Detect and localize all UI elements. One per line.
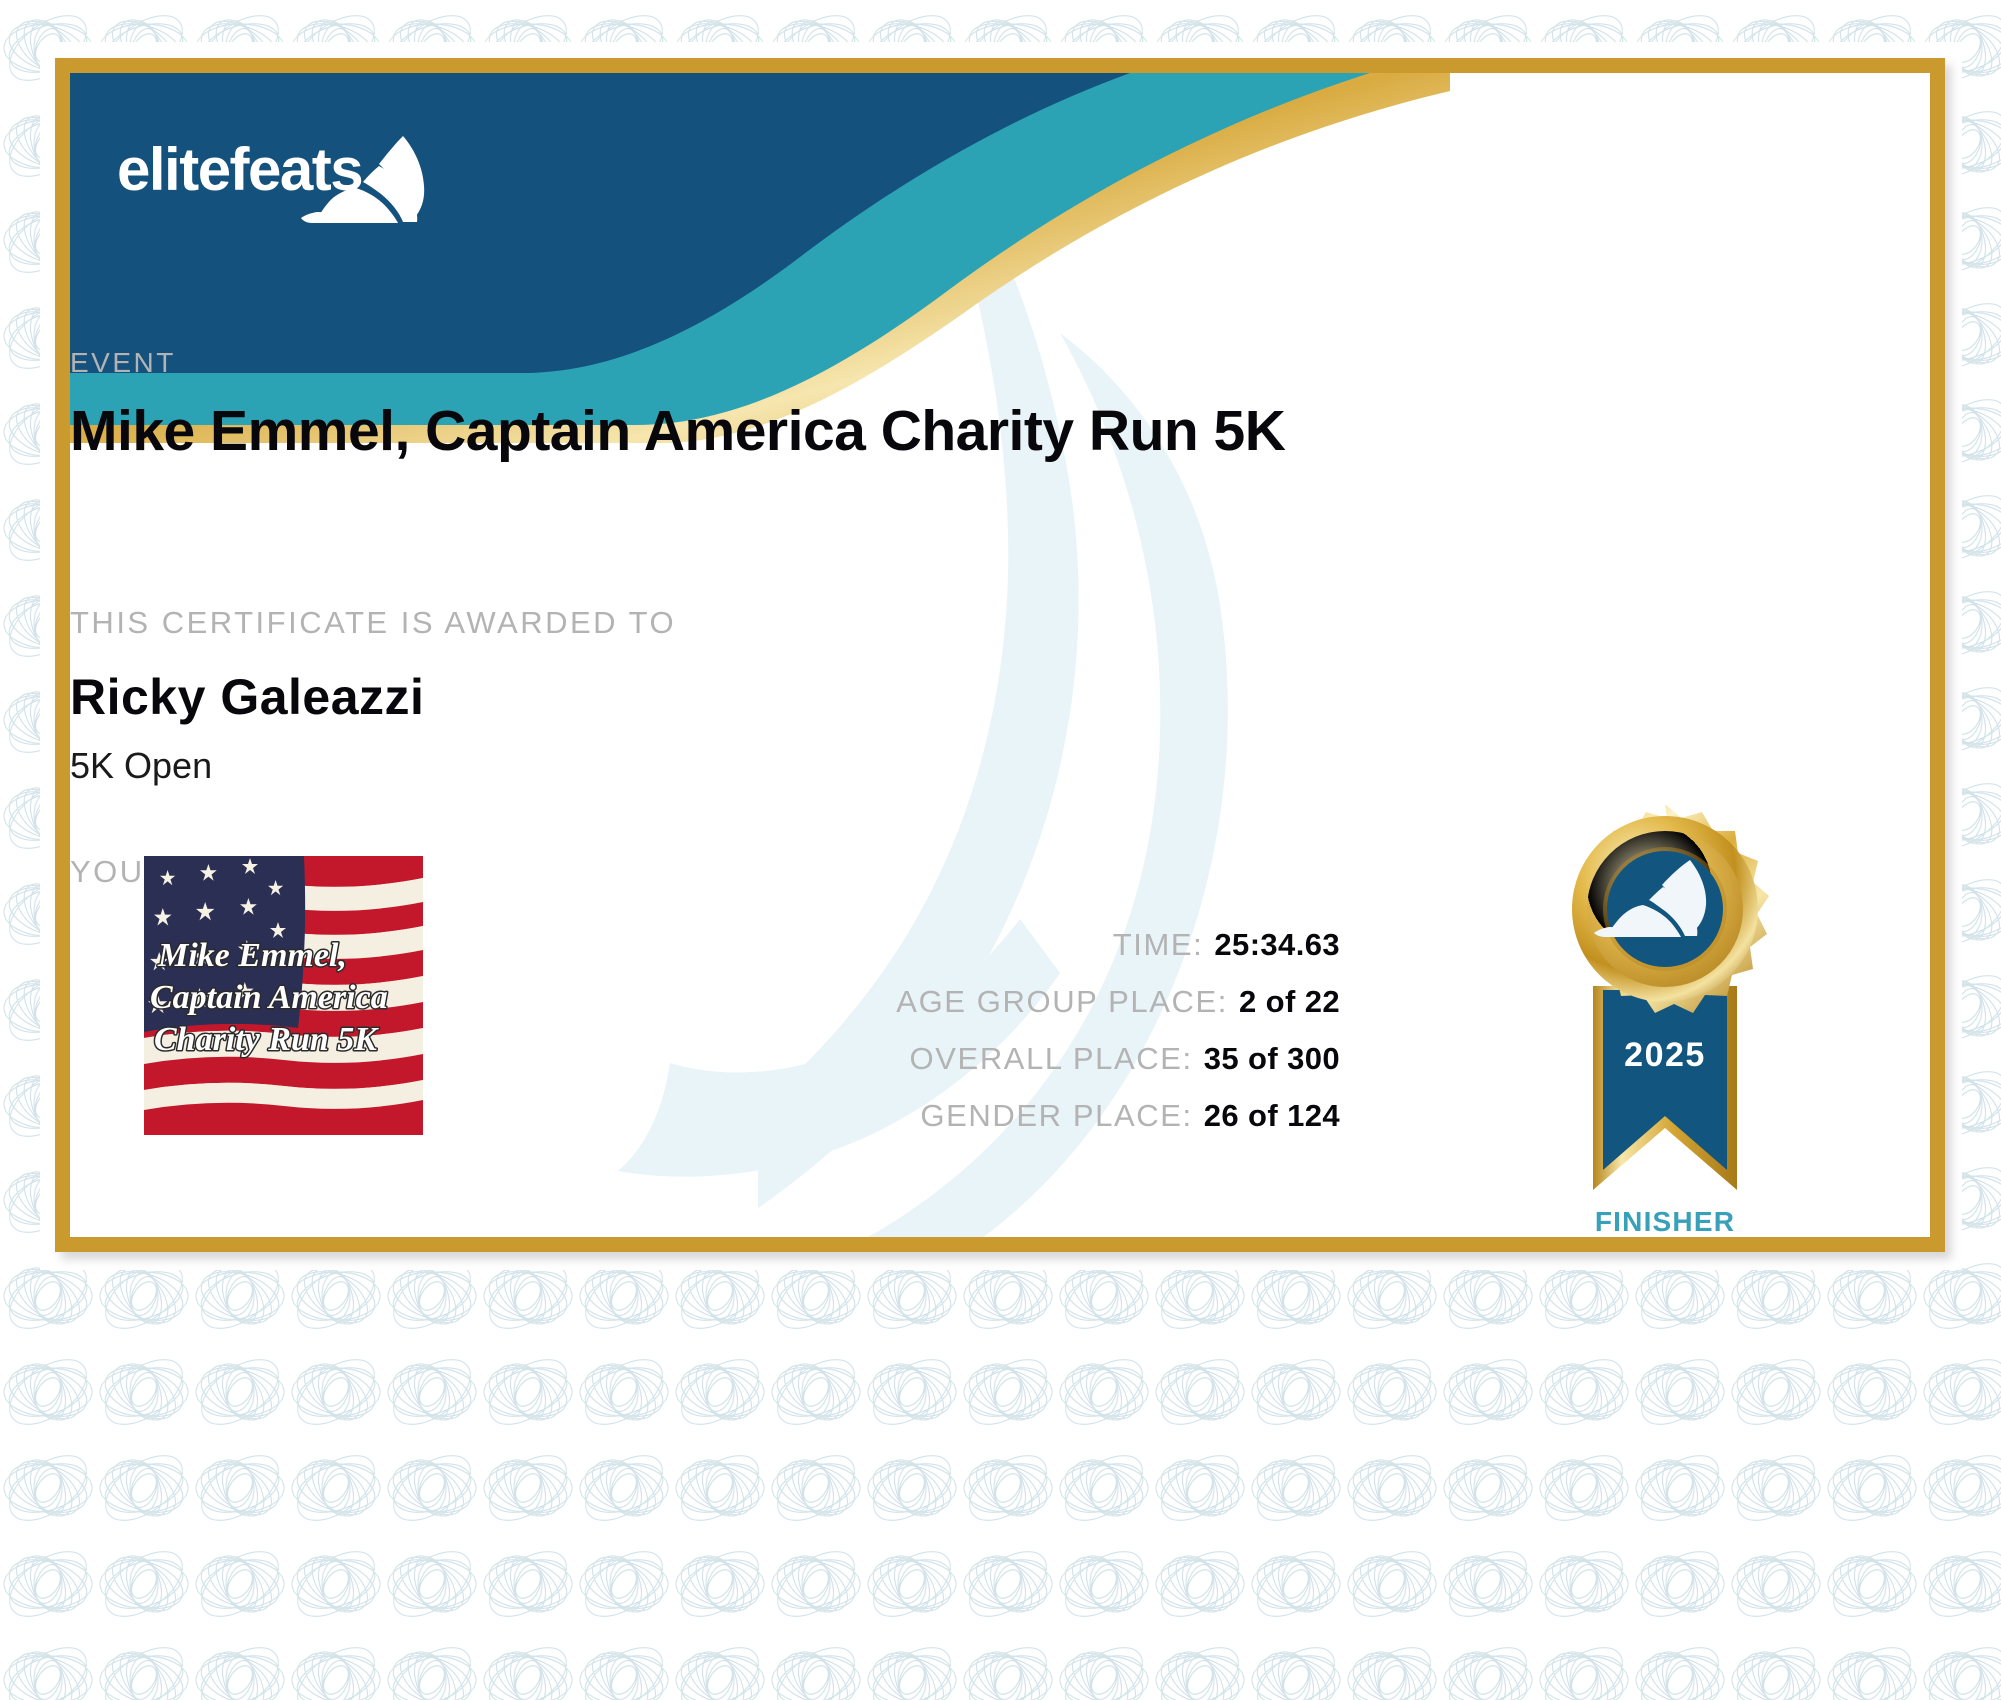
medal-year: 2025 — [1624, 1036, 1706, 1074]
stat-key: OVERALL PLACE: — [910, 1041, 1193, 1077]
stat-value: 25:34.63 — [1214, 927, 1340, 963]
stat-key: GENDER PLACE: — [920, 1098, 1192, 1134]
finisher-certificate-caption: FINISHER CERTIFICATE — [1500, 1206, 1830, 1252]
stat-key: TIME: — [1113, 927, 1204, 963]
finisher-medal-block: 2025 FINISHER CERTIFICATE — [1500, 798, 1830, 1252]
award-medal-icon: 2025 — [1545, 798, 1785, 1208]
elitefeats-logo: elitefeats — [117, 128, 477, 223]
finisher-line1: FINISHER — [1500, 1206, 1830, 1237]
recipient-name: Ricky Galeazzi — [70, 668, 1930, 726]
event-logo-photo: Mike Emmel, Captain America Charity Run … — [144, 856, 423, 1135]
photo-title-line2: Captain America — [150, 979, 388, 1016]
stat-value: 2 of 22 — [1239, 984, 1340, 1020]
photo-title-line3: Charity Run 5K — [154, 1021, 379, 1058]
division-label: 5K Open — [70, 745, 1930, 787]
stat-value: 26 of 124 — [1204, 1098, 1340, 1134]
photo-title-line1: Mike Emmel, — [157, 937, 347, 974]
certificate-page: elitefeats EVENT Mike Emmel, Captain Ame… — [0, 0, 2001, 1700]
svg-text:elitefeats: elitefeats — [117, 136, 362, 203]
stat-key: AGE GROUP PLACE: — [896, 984, 1228, 1020]
event-name: Mike Emmel, Captain America Charity Run … — [70, 398, 1930, 464]
finisher-line2: CERTIFICATE — [1500, 1237, 1830, 1252]
awarded-to-label: THIS CERTIFICATE IS AWARDED TO — [70, 605, 1930, 641]
certificate-card: elitefeats EVENT Mike Emmel, Captain Ame… — [55, 58, 1945, 1252]
medal-ribbon — [1593, 986, 1737, 1190]
event-label: EVENT — [70, 347, 1930, 379]
stat-value: 35 of 300 — [1204, 1041, 1340, 1077]
